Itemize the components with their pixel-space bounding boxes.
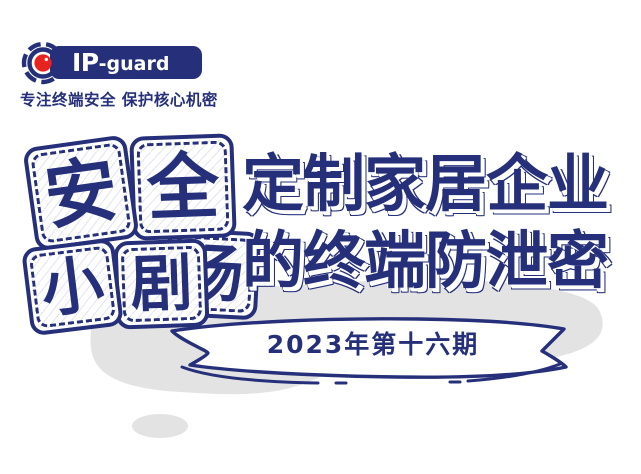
- stamp-quan-char: 全: [146, 150, 220, 224]
- stamp-xiao: 小: [21, 238, 124, 337]
- brand-logo-block: IP -guard 专注终端安全 保护核心机密: [20, 41, 218, 110]
- issue-ribbon: 2023年第十六期: [168, 315, 578, 385]
- brand-wordmark-plate: IP -guard: [50, 46, 202, 79]
- brand-logo-row: IP -guard: [20, 41, 202, 85]
- poster-canvas: IP -guard 专注终端安全 保护核心机密 安 全 场: [0, 0, 641, 474]
- stamp-an: 安: [22, 134, 139, 251]
- page-title: 定制家居企业 的终端防泄密: [242, 144, 608, 301]
- ip-guard-eye-logo-icon: [20, 41, 66, 85]
- stamp-quan: 全: [129, 133, 237, 241]
- issue-ribbon-shape: [168, 315, 578, 385]
- brand-name-primary: IP: [72, 50, 99, 75]
- headline-line-2: 的终端防泄密: [242, 221, 608, 301]
- stamp-an-char: 安: [40, 152, 121, 233]
- stamp-xiao-char: 小: [38, 252, 107, 321]
- stamp-ju-char: 剧: [129, 252, 193, 316]
- headline-line-1: 定制家居企业: [242, 144, 608, 224]
- brand-tagline: 专注终端安全 保护核心机密: [20, 88, 218, 110]
- brand-name-secondary: -guard: [99, 55, 170, 74]
